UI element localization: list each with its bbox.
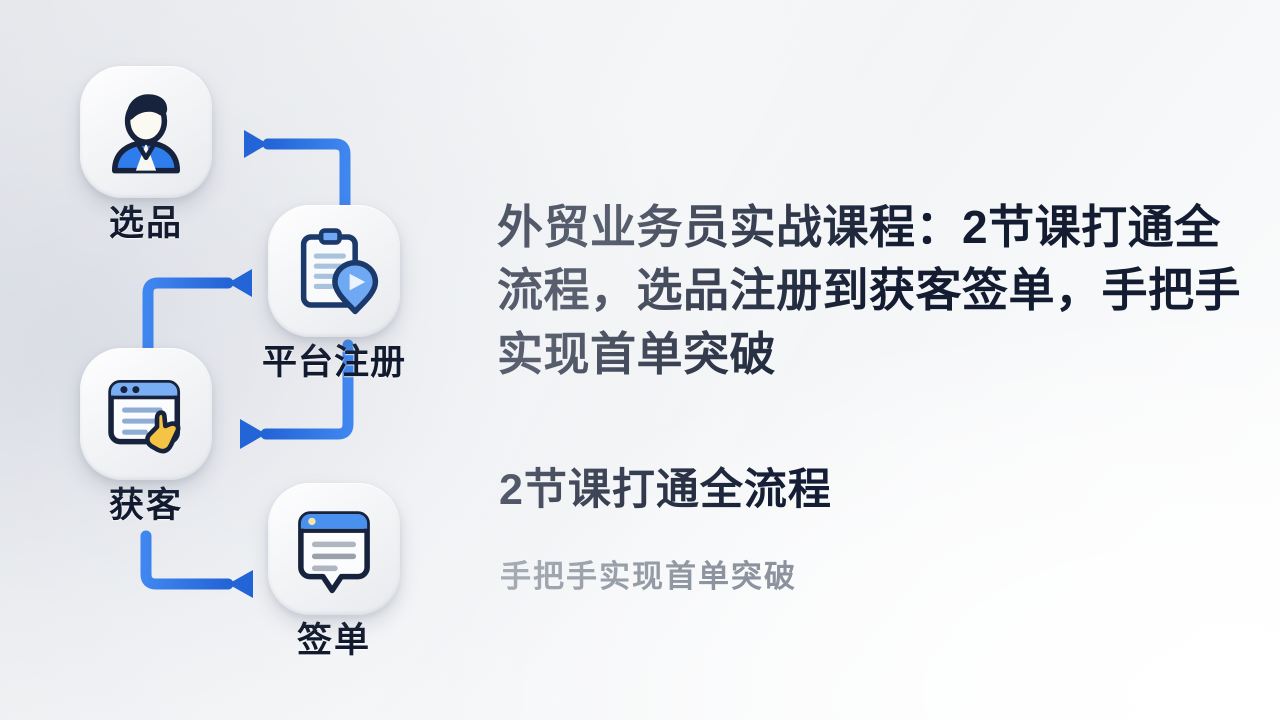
flow-node-label: 平台注册 (234, 344, 434, 381)
process-flow-diagram: 选品 平台注册 (0, 0, 470, 720)
flow-node-huoke[interactable]: 获客 (80, 348, 212, 524)
page-title: 外贸业务员实战课程：2节课打通全流程，选品注册到获客签单，手把手实现首单突破 (497, 196, 1242, 386)
arrow-huoke-col-to-zhuce (148, 269, 252, 352)
arrow-huoke-down-to-qiandan (146, 536, 253, 598)
subtitle-heading: 2节课打通全流程 (499, 455, 832, 517)
flow-node-zhuce[interactable]: 平台注册 (268, 205, 434, 381)
arrow-zhuce-up-to-xuanpin (244, 130, 345, 205)
flow-node-tile (268, 205, 400, 337)
flow-node-tile (80, 348, 212, 480)
subtitle-caption: 手把手实现首单突破 (500, 551, 797, 596)
flow-node-xuanpin[interactable]: 选品 (80, 66, 212, 242)
businessman-icon (100, 86, 192, 178)
chat-bubble-document-icon (288, 503, 380, 595)
flow-node-label: 签单 (268, 622, 400, 659)
clipboard-location-icon (288, 225, 380, 317)
browser-hand-click-icon (100, 368, 192, 460)
text-column: 外贸业务员实战课程：2节课打通全流程，选品注册到获客签单，手把手实现首单突破 2… (497, 0, 1257, 720)
flow-node-qiandan[interactable]: 签单 (268, 483, 400, 659)
flow-node-tile (80, 66, 212, 198)
flow-node-label: 选品 (80, 205, 212, 242)
flow-node-tile (268, 483, 400, 615)
poster-canvas: 选品 平台注册 (0, 0, 1280, 720)
flow-node-label: 获客 (80, 487, 212, 524)
